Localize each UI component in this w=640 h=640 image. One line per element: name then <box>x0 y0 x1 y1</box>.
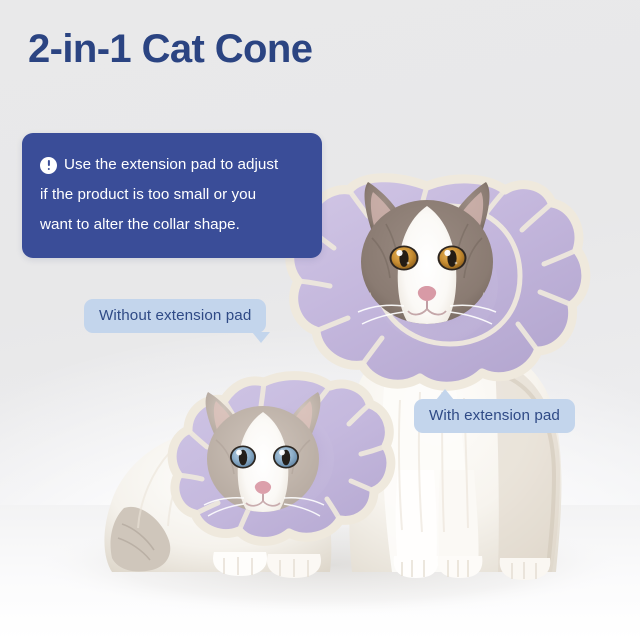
callout-text-1: Use the extension pad to adjust <box>64 150 278 180</box>
callout-line-1: Use the extension pad to adjust <box>40 150 304 180</box>
callout-text-3: want to alter the collar shape. <box>40 210 304 240</box>
eye-left <box>230 446 256 469</box>
label-without-extension-pad: Without extension pad <box>84 299 266 333</box>
eye-right <box>273 446 299 469</box>
eye-left <box>390 246 419 271</box>
label-with-extension-pad: With extension pad <box>414 399 575 433</box>
info-callout: Use the extension pad to adjust if the p… <box>22 133 322 258</box>
eye-right <box>438 246 467 271</box>
exclamation-circle-icon <box>40 157 57 174</box>
product-promo-image: 2-in-1 Cat Cone Use the extension pad to… <box>0 0 640 640</box>
callout-text-2: if the product is too small or you <box>40 180 304 210</box>
